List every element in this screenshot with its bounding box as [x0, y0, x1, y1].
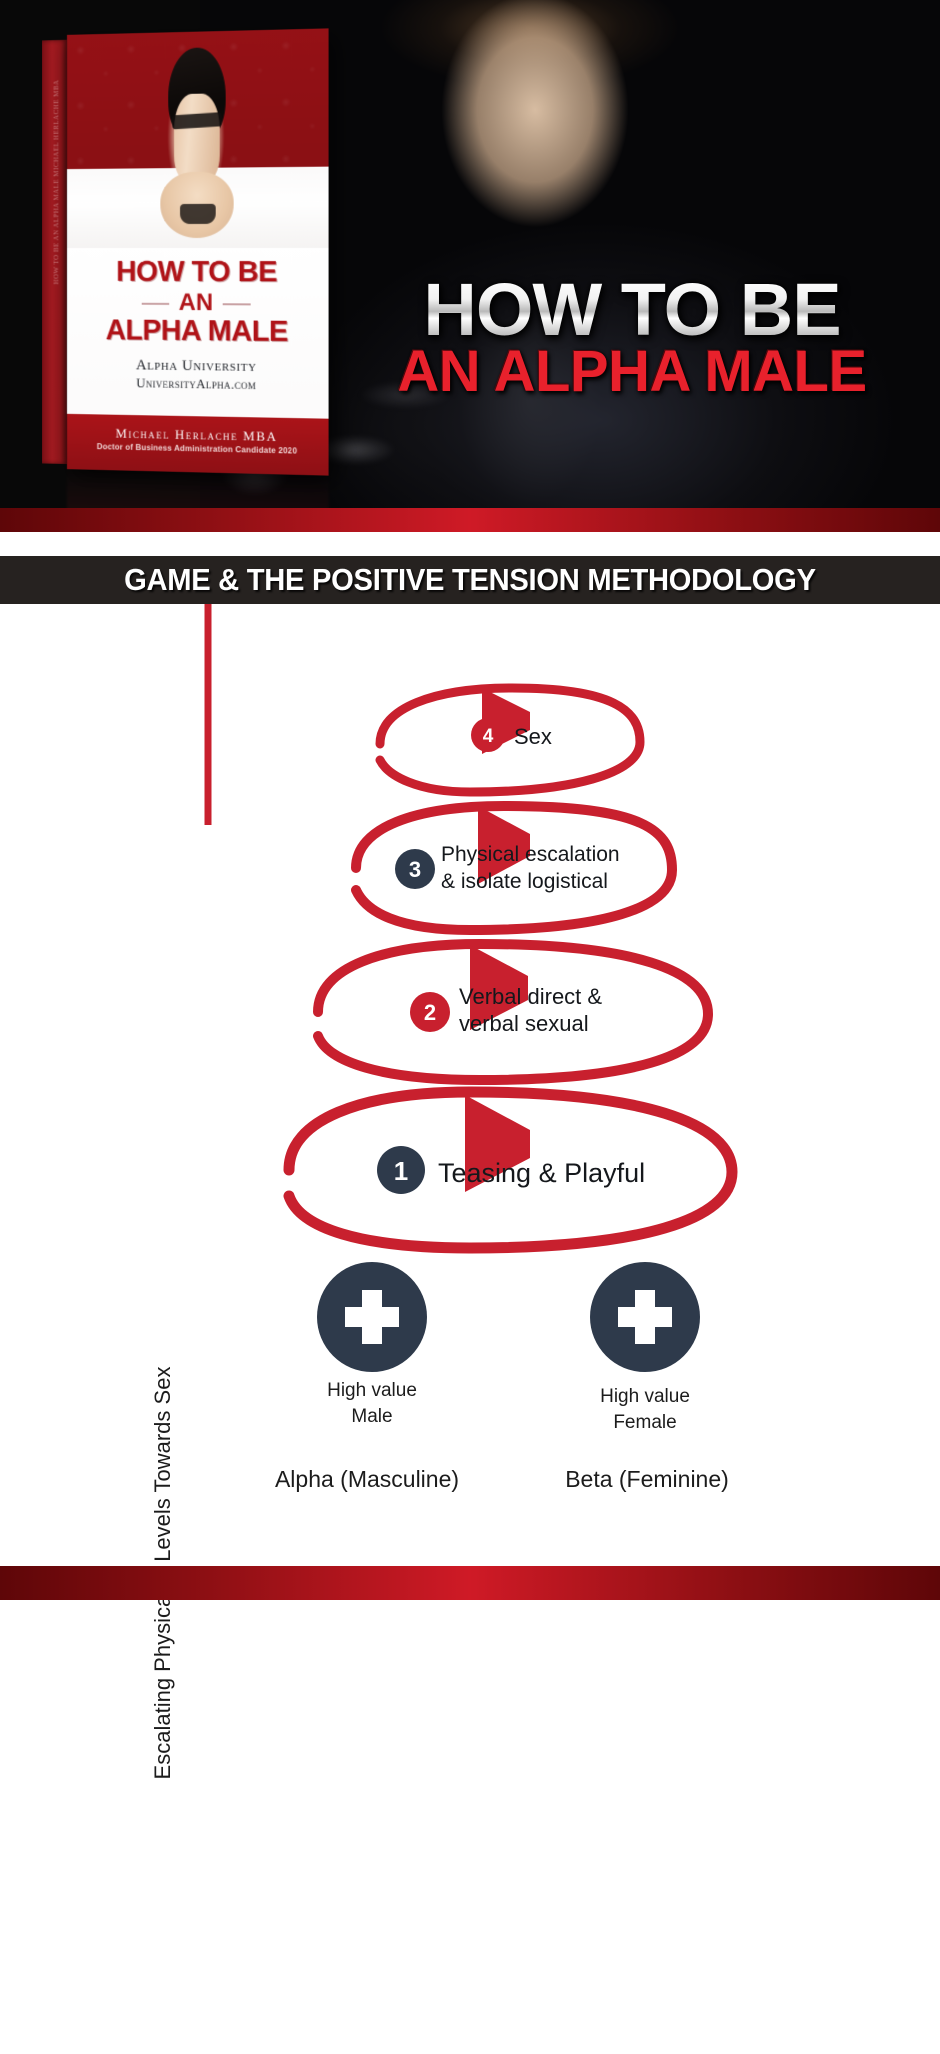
- step-3-number: 3: [409, 857, 421, 882]
- male-axis-label: Alpha (Masculine): [275, 1466, 459, 1492]
- female-axis-label: Beta (Feminine): [565, 1466, 729, 1492]
- bed-decoration: [67, 167, 329, 254]
- node-high-value-male: High value Male Alpha (Masculine): [275, 1262, 459, 1492]
- figure-lace: [180, 204, 216, 224]
- vertical-axis-arrow: [180, 604, 236, 825]
- book-title-line1: HOW TO BE: [67, 258, 329, 288]
- male-node-label-line2: Male: [351, 1406, 392, 1427]
- hero-title: HOW TO BE AN ALPHA MALE: [352, 276, 912, 398]
- step-2-group: 2 Verbal direct & verbal sexual: [318, 944, 708, 1080]
- section-header-band: GAME & THE POSITIVE TENSION METHODOLOGY: [0, 556, 940, 604]
- book-front-cover: HOW TO BE AN ALPHA MALE Alpha University…: [67, 28, 329, 475]
- step-4-label: Sex: [514, 724, 552, 749]
- book-title-line3: ALPHA MALE: [67, 316, 329, 347]
- red-divider-bottom: [0, 1566, 940, 1600]
- book-title-block: HOW TO BE AN ALPHA MALE Alpha University…: [67, 248, 329, 419]
- step-2-label-line1: Verbal direct &: [459, 984, 602, 1009]
- book-cover-photo: [67, 28, 329, 254]
- positive-tension-diagram: Escalating Physicality Levels Towards Se…: [0, 604, 940, 1566]
- step-3-label-line2: & isolate logistical: [441, 870, 608, 893]
- hero-banner: HOW TO BE AN ALPHA MALE HOW TO BE AN ALP…: [0, 0, 940, 508]
- red-divider-top: [0, 508, 940, 532]
- step-2-label-line2: verbal sexual: [459, 1011, 589, 1036]
- book-spine: HOW TO BE AN ALPHA MALE MICHAEL HERLACHE…: [42, 40, 67, 464]
- book-cover-mockup: HOW TO BE AN ALPHA MALE MICHAEL HERLACHE…: [42, 28, 329, 475]
- step-3-group: 3 Physical escalation & isolate logistic…: [356, 806, 672, 930]
- step-1-number: 1: [394, 1156, 408, 1186]
- node-high-value-female: High value Female Beta (Feminine): [565, 1262, 729, 1492]
- figure-torso: [174, 93, 220, 182]
- figure-bra: [172, 112, 222, 129]
- book-author-band: Michael Herlache MBA Doctor of Business …: [67, 414, 329, 476]
- hero-title-line1: HOW TO BE: [352, 276, 912, 344]
- hero-title-line2: AN ALPHA MALE: [352, 345, 912, 398]
- step-4-group: 4 Sex: [380, 688, 640, 792]
- step-1-group: 1 Teasing & Playful: [289, 1092, 732, 1248]
- diagram-canvas: 1 Teasing & Playful 2 Verbal direct & ve…: [0, 604, 940, 1566]
- female-node-label-line1: High value: [600, 1386, 690, 1407]
- book-title-line2: AN: [163, 291, 229, 315]
- male-node-label-line1: High value: [327, 1380, 417, 1401]
- section-title: GAME & THE POSITIVE TENSION METHODOLOGY: [124, 562, 816, 598]
- damask-pattern-decoration: [67, 28, 329, 173]
- book-website: UniversityAlpha.com: [67, 374, 329, 394]
- step-2-number: 2: [424, 1000, 436, 1025]
- book-spine-text: HOW TO BE AN ALPHA MALE MICHAEL HERLACHE…: [53, 19, 61, 344]
- step-1-label: Teasing & Playful: [438, 1158, 645, 1188]
- book-author-subtitle: Doctor of Business Administration Candid…: [67, 441, 329, 456]
- step-4-number: 4: [483, 726, 494, 747]
- female-node-label-line2: Female: [613, 1412, 676, 1433]
- book-reflection-decoration: [67, 469, 329, 508]
- figure-hips: [160, 172, 233, 238]
- step-3-label-line1: Physical escalation: [441, 843, 620, 866]
